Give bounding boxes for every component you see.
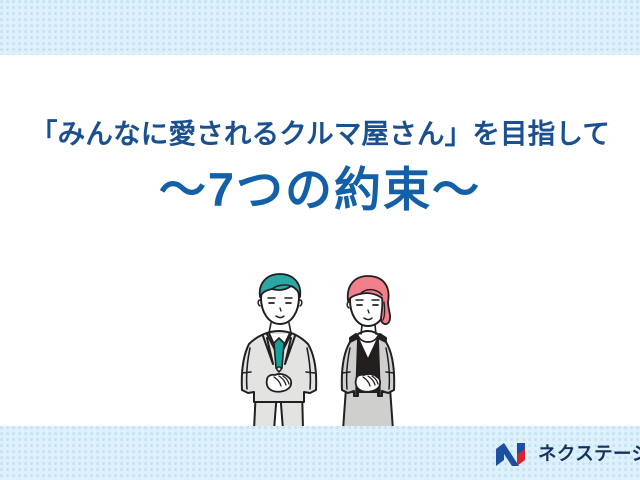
- female-staff-bowing: [342, 276, 394, 430]
- top-dotted-band: [0, 0, 640, 55]
- headline-block: 「みんなに愛されるクルマ屋さん」を目指して 〜7つの約束〜: [0, 118, 640, 216]
- nexstage-logo: ネクステージ: [495, 438, 627, 470]
- banner-subheadline: 〜7つの約束〜: [0, 164, 640, 216]
- nexstage-n-mark: [495, 442, 531, 467]
- brand-name-label: ネクステージ: [538, 445, 640, 464]
- two-bowing-staff-illustration: [236, 272, 426, 430]
- promotional-banner: 「みんなに愛されるクルマ屋さん」を目指して 〜7つの約束〜: [0, 0, 640, 480]
- banner-headline: 「みんなに愛されるクルマ屋さん」を目指して: [0, 118, 640, 150]
- male-staff-bowing: [242, 274, 316, 430]
